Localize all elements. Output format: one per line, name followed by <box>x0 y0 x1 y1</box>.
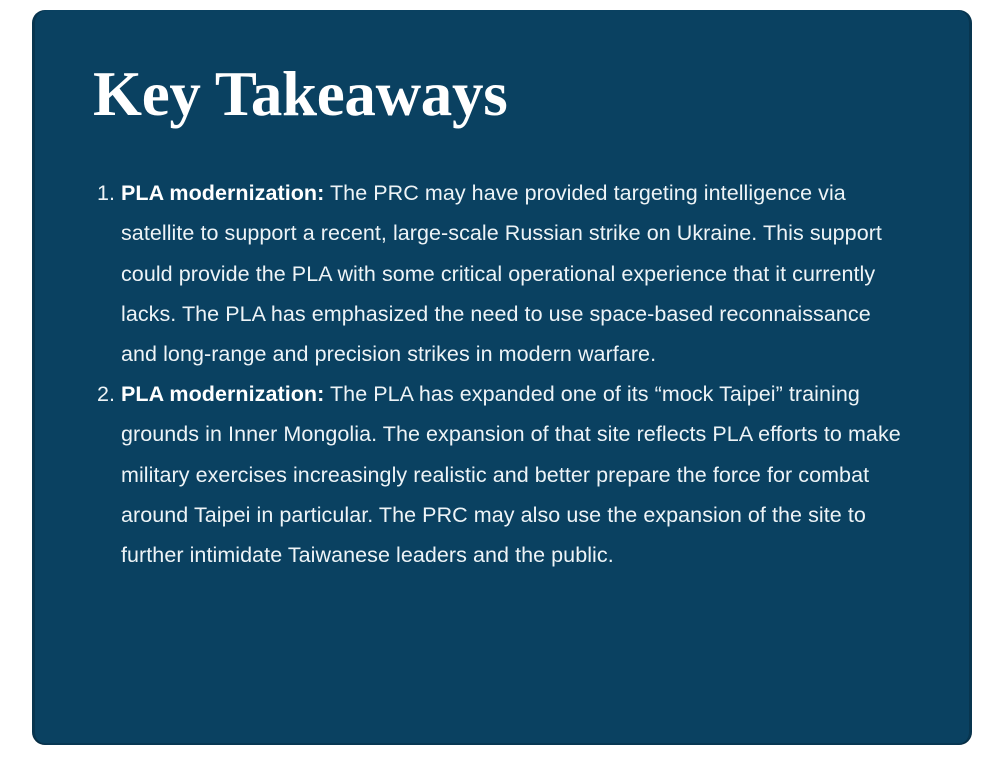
list-item-marker: 1. <box>93 173 115 213</box>
page-root: Key Takeaways 1.PLA modernization: The P… <box>0 0 1000 760</box>
page-title: Key Takeaways <box>93 62 932 126</box>
list-item-marker: 2. <box>93 374 115 414</box>
card-content: Key Takeaways 1.PLA modernization: The P… <box>32 10 972 615</box>
list-item-lead: PLA modernization: <box>121 382 324 406</box>
list-item: 2.PLA modernization: The PLA has expande… <box>93 374 911 575</box>
list-item-body: The PRC may have provided targeting inte… <box>121 181 882 366</box>
list-item: 1.PLA modernization: The PRC may have pr… <box>93 173 911 374</box>
list-item-body: The PLA has expanded one of its “mock Ta… <box>121 382 901 567</box>
key-takeaways-card: Key Takeaways 1.PLA modernization: The P… <box>32 10 972 745</box>
takeaways-list: 1.PLA modernization: The PRC may have pr… <box>93 173 932 575</box>
list-item-lead: PLA modernization: <box>121 181 324 205</box>
